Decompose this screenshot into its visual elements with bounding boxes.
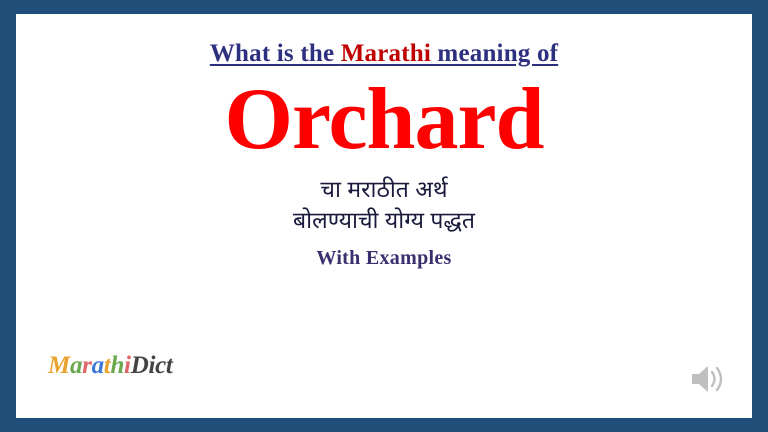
- slide-root: What is the Marathi meaning of Orchard च…: [0, 0, 768, 432]
- brand-logo: MarathiDict: [48, 352, 173, 380]
- logo-letter-h: h: [110, 352, 124, 379]
- speaker-icon[interactable]: [688, 362, 728, 396]
- subtitle-line-1: चा मराठीत अर्थ: [320, 174, 447, 204]
- headline-suffix: meaning of: [431, 40, 558, 67]
- logo-letter-i: i: [124, 352, 131, 379]
- headword: Orchard: [225, 74, 544, 166]
- with-examples-label: With Examples: [316, 247, 451, 270]
- logo-letter-r: r: [82, 352, 91, 379]
- page-title: What is the Marathi meaning of: [210, 40, 558, 68]
- logo-letter-a1: a: [70, 352, 82, 379]
- logo-letter-a2: a: [92, 352, 104, 379]
- content-card: What is the Marathi meaning of Orchard च…: [16, 14, 752, 418]
- logo-suffix: Dict: [131, 352, 173, 379]
- headline-prefix: What is the: [210, 40, 341, 67]
- subtitle-line-2: बोलण्याची योग्य पद्धत: [293, 205, 475, 235]
- logo-letter-m: M: [48, 352, 70, 379]
- headline-highlight: Marathi: [341, 40, 431, 67]
